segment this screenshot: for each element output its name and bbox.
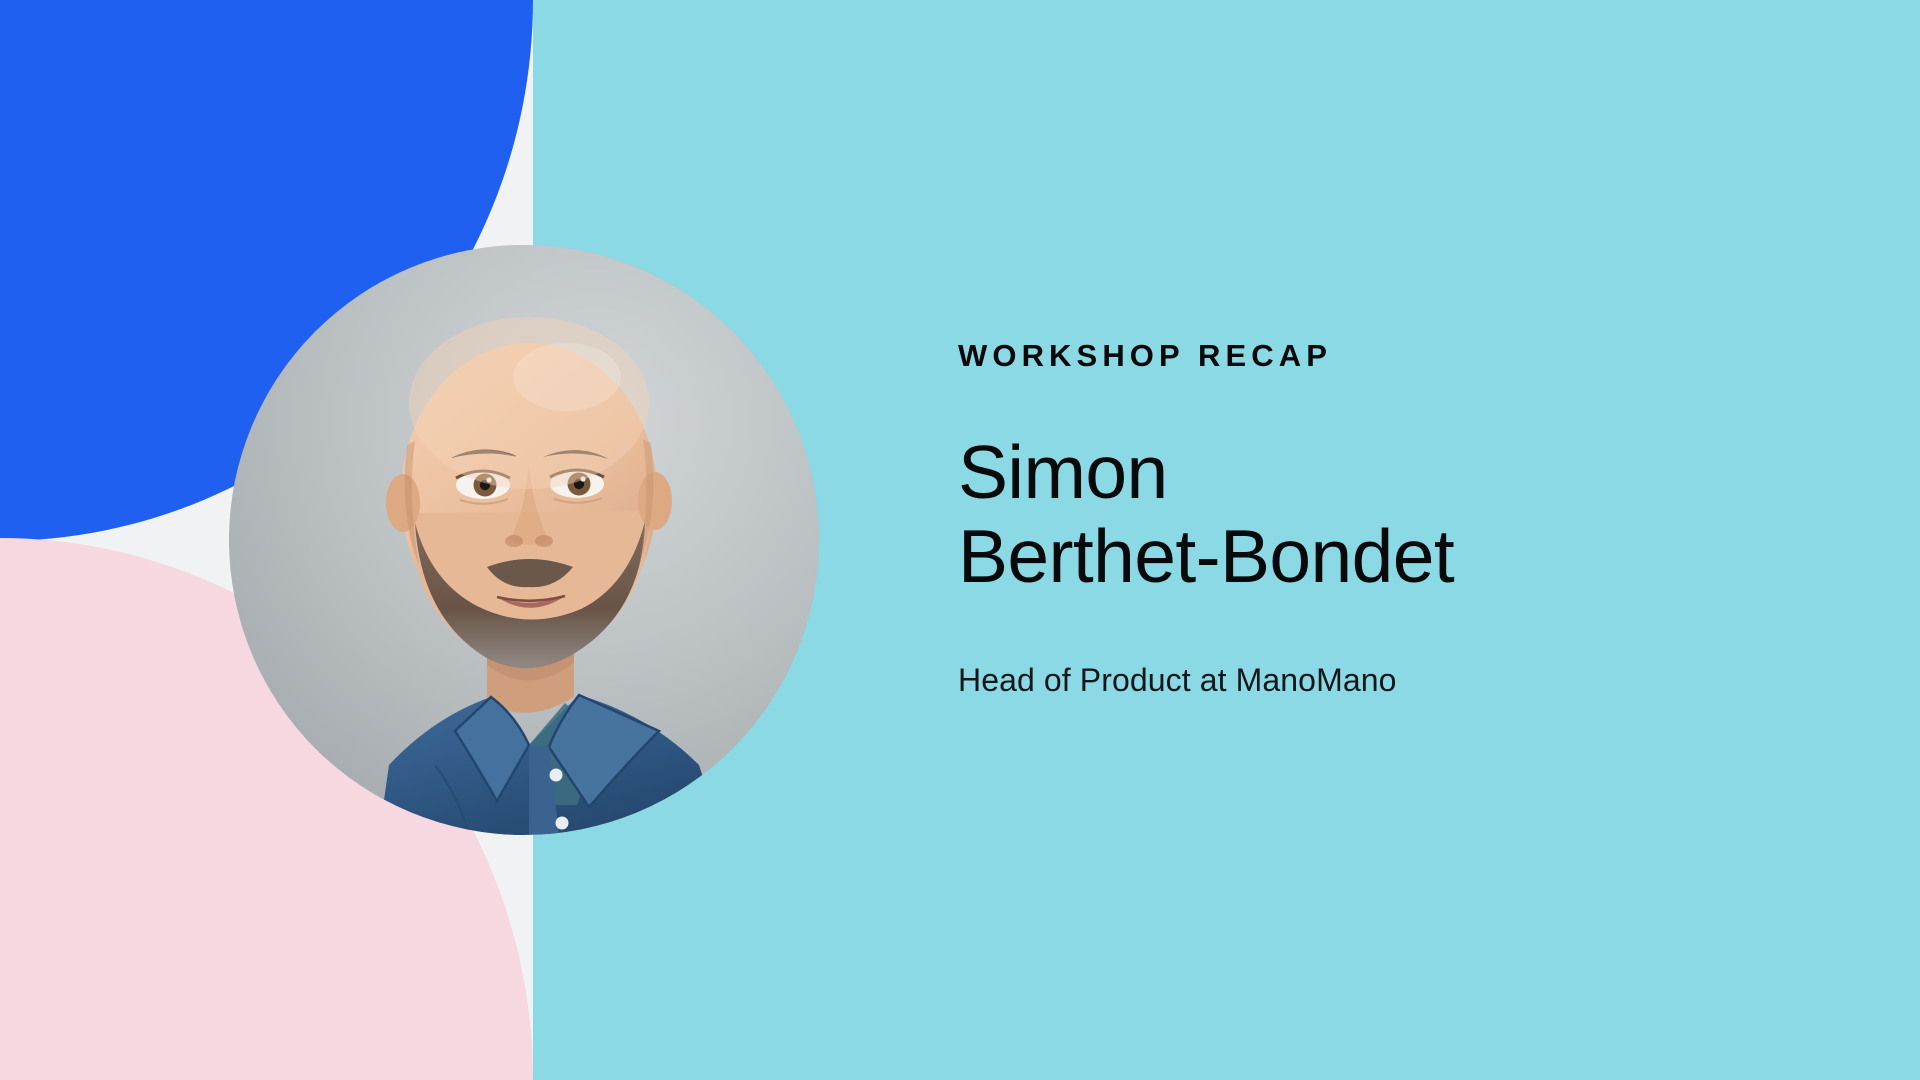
speaker-name: Simon Berthet-Bondet bbox=[958, 430, 1778, 598]
speaker-text-block: WORKSHOP RECAP Simon Berthet-Bondet Head… bbox=[958, 340, 1778, 696]
speaker-card-slide: WORKSHOP RECAP Simon Berthet-Bondet Head… bbox=[0, 0, 1920, 1080]
speaker-role: Head of Product at ManoMano bbox=[958, 664, 1778, 696]
portrait-illustration bbox=[229, 245, 819, 835]
speaker-portrait-avatar bbox=[229, 245, 819, 835]
eyebrow-label: WORKSHOP RECAP bbox=[958, 340, 1778, 371]
